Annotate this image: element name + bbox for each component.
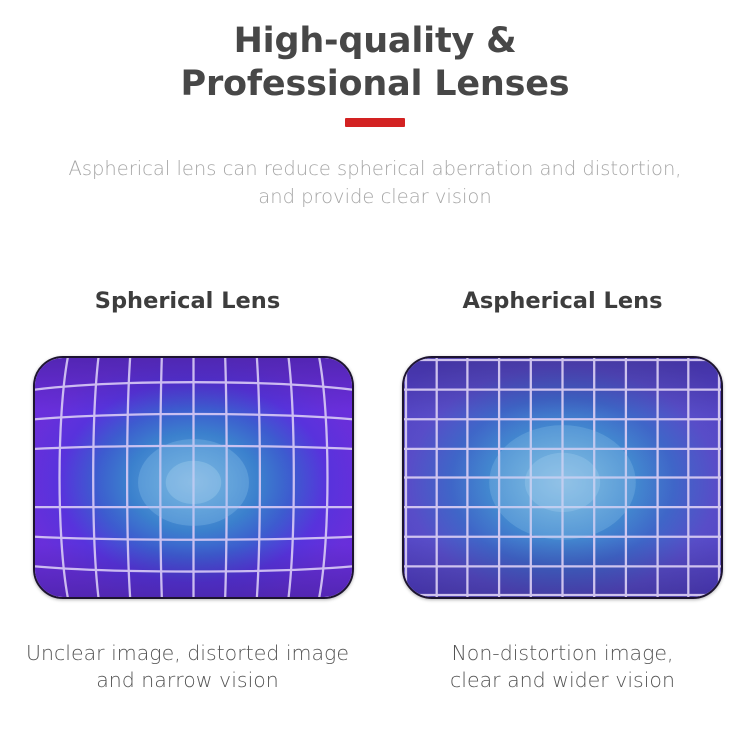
page-subtitle-line-2: and provide clear vision xyxy=(0,183,750,211)
pane-spherical-caption: Unclear image, distorted image and narro… xyxy=(0,640,375,694)
pane-aspherical-caption-line-1: Non-distortion image, xyxy=(375,640,750,667)
aspherical-lens-straight-grid-icon xyxy=(404,358,721,597)
pane-aspherical-caption-line-2: clear and wider vision xyxy=(375,667,750,694)
aspherical-lens-surface xyxy=(402,356,723,599)
page-subtitle: Aspherical lens can reduce spherical abe… xyxy=(0,155,750,212)
pane-aspherical-caption: Non-distortion image, clear and wider vi… xyxy=(375,640,750,694)
page-title-line-1: High-quality & xyxy=(0,20,750,63)
aspherical-lens-tile xyxy=(402,356,723,599)
spherical-lens-surface xyxy=(33,356,354,599)
spherical-lens-tile xyxy=(33,356,354,599)
page-title: High-quality & Professional Lenses xyxy=(0,20,750,105)
pane-spherical-caption-line-2: and narrow vision xyxy=(0,667,375,694)
lens-comparison: Spherical Lens xyxy=(0,288,750,728)
product-feature-graphic: High-quality & Professional Lenses Asphe… xyxy=(0,0,750,750)
page-title-line-2: Professional Lenses xyxy=(0,63,750,106)
pane-spherical-heading: Spherical Lens xyxy=(0,288,375,314)
pane-spherical-caption-line-1: Unclear image, distorted image xyxy=(0,640,375,667)
red-accent-bar xyxy=(345,118,405,127)
spherical-lens-distorted-grid-icon xyxy=(35,358,352,597)
pane-spherical-lens: Spherical Lens xyxy=(0,288,375,728)
pane-aspherical-lens: Aspherical Lens xyxy=(375,288,750,728)
pane-aspherical-heading: Aspherical Lens xyxy=(375,288,750,314)
page-subtitle-line-1: Aspherical lens can reduce spherical abe… xyxy=(0,155,750,183)
